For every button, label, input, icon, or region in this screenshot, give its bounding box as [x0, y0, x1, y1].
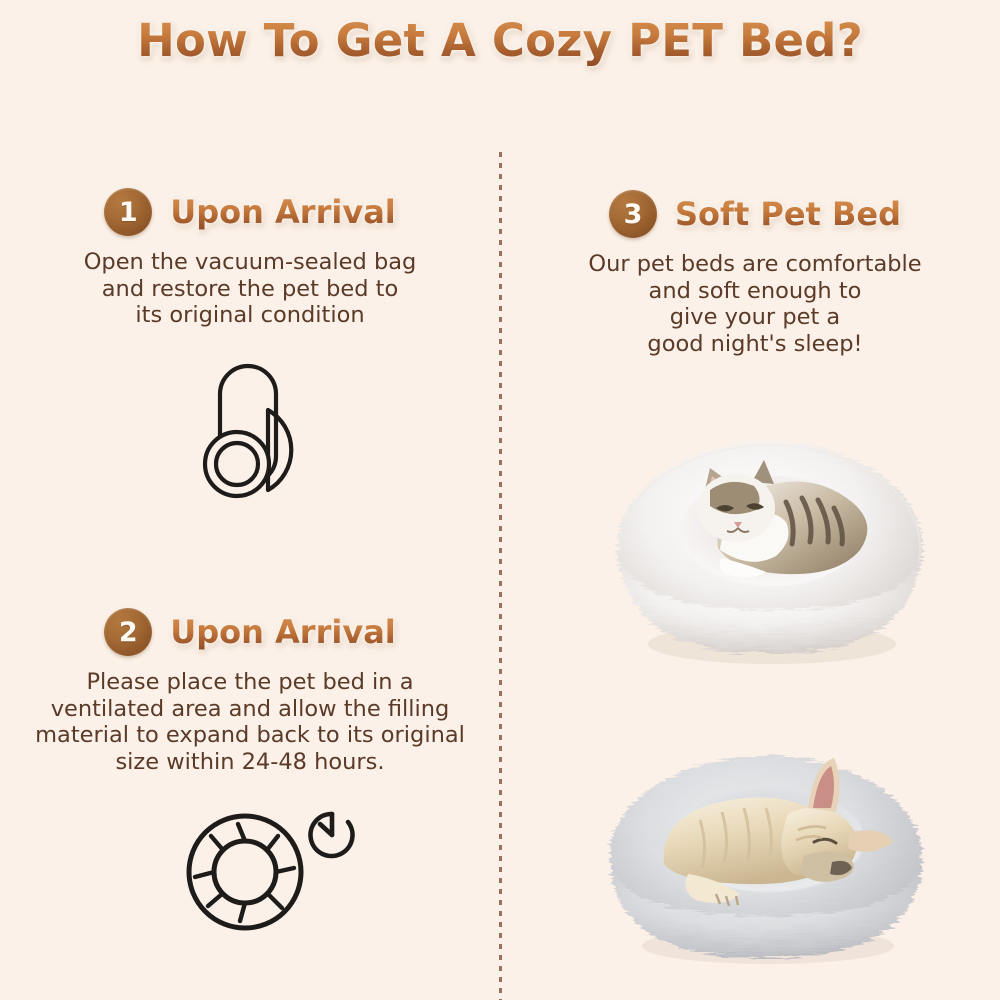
step-2-title: Upon Arrival [170, 613, 396, 651]
page-title-wrap: How To Get A Cozy PET Bed? [0, 14, 1000, 67]
step-1-header: 1 Upon Arrival [40, 188, 460, 236]
expanding-donut-bed-timer-icon [178, 800, 363, 945]
step-block-1: 1 Upon Arrival Open the vacuum-sealed ba… [40, 188, 460, 329]
step-1-body-line: and restore the pet bed to [40, 276, 460, 303]
step-1-body-line: its original condition [40, 302, 460, 329]
step-3-number-badge: 3 [609, 190, 657, 238]
step-block-3: 3 Soft Pet Bed Our pet beds are comforta… [540, 190, 970, 357]
step-3-title: Soft Pet Bed [675, 195, 901, 233]
step-2-body: Please place the pet bed in a ventilated… [30, 669, 470, 775]
step-2-header: 2 Upon Arrival [30, 608, 470, 656]
step-2-body-line: size within 24-48 hours. [30, 749, 470, 776]
step-block-2: 2 Upon Arrival Please place the pet bed … [30, 608, 470, 775]
step-3-body-line: Our pet beds are comfortable [540, 251, 970, 278]
step-1-body-line: Open the vacuum-sealed bag [40, 249, 460, 276]
step-2-body-line: material to expand back to its original [30, 722, 470, 749]
step-2-number-badge: 2 [104, 608, 152, 656]
infographic-page: How To Get A Cozy PET Bed? 1 Upon Arriva… [0, 0, 1000, 1000]
page-title: How To Get A Cozy PET Bed? [137, 14, 863, 67]
step-3-body-line: and soft enough to [540, 278, 970, 305]
step-3-body-line: good night's sleep! [540, 331, 970, 358]
step-1-title: Upon Arrival [170, 193, 396, 231]
dog-in-pet-bed-photo [592, 716, 940, 978]
step-2-body-line: ventilated area and allow the filling [30, 696, 470, 723]
step-1-body: Open the vacuum-sealed bag and restore t… [40, 249, 460, 329]
step-3-body-line: give your pet a [540, 304, 970, 331]
rolled-bed-icon [190, 352, 350, 507]
step-3-body: Our pet beds are comfortable and soft en… [540, 251, 970, 357]
step-3-header: 3 Soft Pet Bed [540, 190, 970, 238]
column-divider [499, 152, 502, 1000]
step-2-body-line: Please place the pet bed in a [30, 669, 470, 696]
cat-in-pet-bed-photo [600, 398, 940, 683]
step-1-number-badge: 1 [104, 188, 152, 236]
donut-bed-shape [189, 816, 301, 928]
timer-icon [311, 814, 353, 856]
